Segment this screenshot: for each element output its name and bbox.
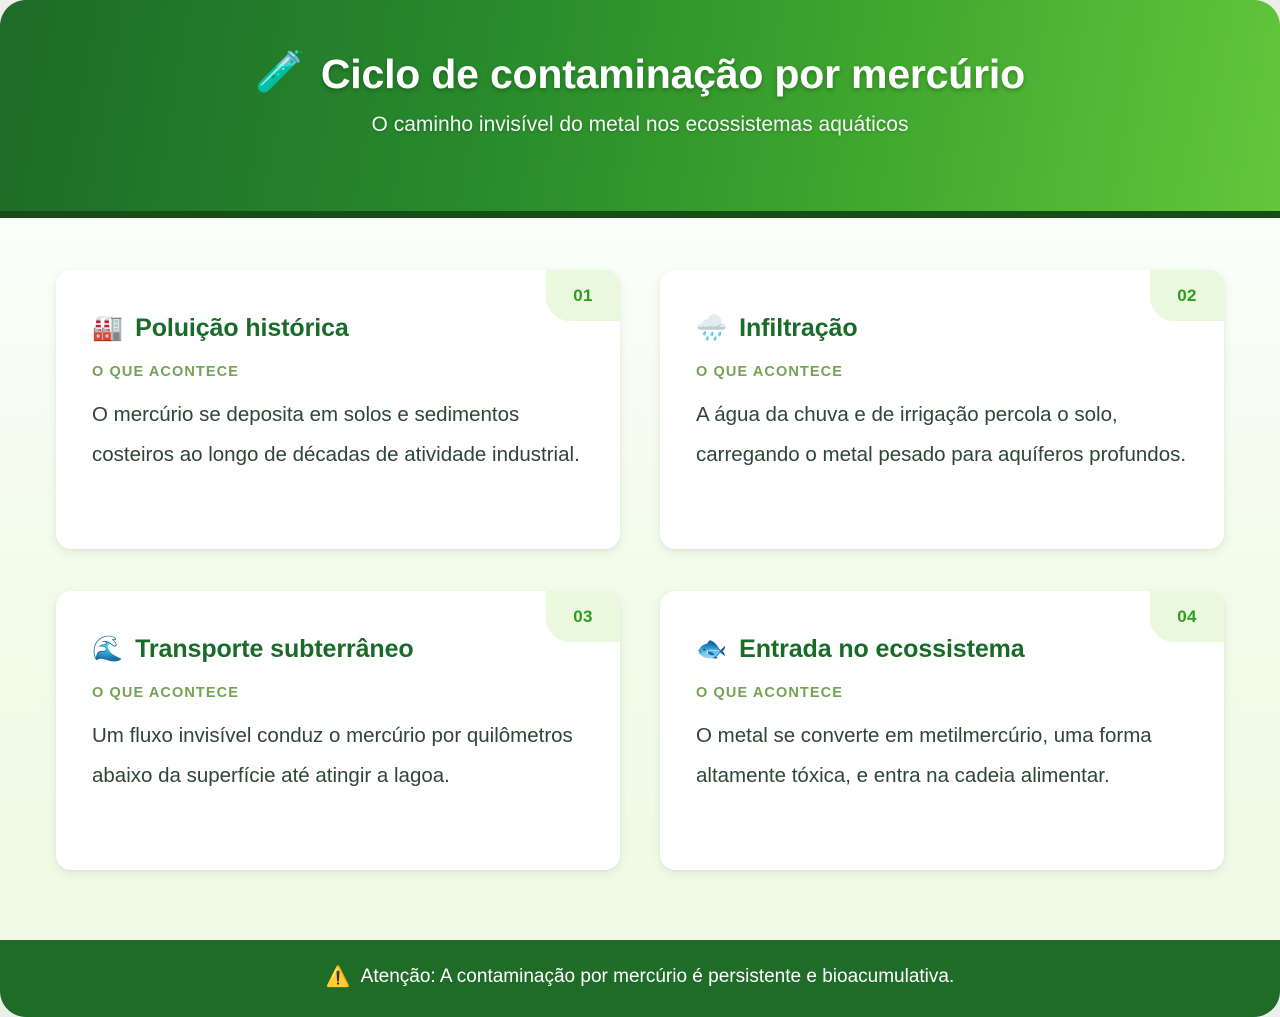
card-section-label: O QUE ACONTECE: [92, 685, 584, 701]
step-card-02[interactable]: 02 🌧️ Infiltração O QUE ACONTECE A água …: [660, 270, 1224, 549]
warning-icon: ⚠️: [326, 967, 351, 987]
test-tube-icon: 🧪: [255, 52, 305, 92]
card-title: Poluição histórica: [135, 314, 349, 343]
card-section-label: O QUE ACONTECE: [696, 685, 1188, 701]
infographic-root: 🧪 Ciclo de contaminação por mercúrio O c…: [0, 0, 1280, 1017]
header-banner: 🧪 Ciclo de contaminação por mercúrio O c…: [0, 0, 1280, 218]
page-title: Ciclo de contaminação por mercúrio: [321, 51, 1025, 98]
card-title: Infiltração: [739, 314, 857, 343]
card-title-row: 🌊 Transporte subterrâneo: [92, 635, 584, 664]
step-number-badge: 01: [546, 270, 620, 321]
card-title-row: 🌧️ Infiltração: [696, 314, 1188, 343]
card-description: O metal se converte em metilmercúrio, um…: [696, 716, 1188, 796]
header-title-row: 🧪 Ciclo de contaminação por mercúrio: [255, 51, 1025, 98]
wave-icon: 🌊: [92, 637, 123, 662]
step-card-04[interactable]: 04 🐟 Entrada no ecossistema O QUE ACONTE…: [660, 591, 1224, 870]
card-description: O mercúrio se deposita em solos e sedime…: [92, 395, 584, 475]
step-number-badge: 04: [1150, 591, 1224, 642]
card-title: Entrada no ecossistema: [739, 635, 1024, 664]
footer-warning-bar: ⚠️ Atenção: A contaminação por mercúrio …: [0, 940, 1280, 1017]
card-title-row: 🐟 Entrada no ecossistema: [696, 635, 1188, 664]
card-title-row: 🏭 Poluição histórica: [92, 314, 584, 343]
rain-cloud-icon: 🌧️: [696, 316, 727, 341]
card-description: A água da chuva e de irrigação percola o…: [696, 395, 1188, 475]
step-number-badge: 02: [1150, 270, 1224, 321]
card-title: Transporte subterrâneo: [135, 635, 413, 664]
card-description: Um fluxo invisível conduz o mercúrio por…: [92, 716, 584, 796]
step-number-badge: 03: [546, 591, 620, 642]
card-section-label: O QUE ACONTECE: [92, 364, 584, 380]
step-card-01[interactable]: 01 🏭 Poluição histórica O QUE ACONTECE O…: [56, 270, 620, 549]
page-subtitle: O caminho invisível do metal nos ecossis…: [372, 113, 909, 137]
card-section-label: O QUE ACONTECE: [696, 364, 1188, 380]
factory-icon: 🏭: [92, 316, 123, 341]
footer-text: Atenção: A contaminação por mercúrio é p…: [361, 966, 955, 988]
step-card-03[interactable]: 03 🌊 Transporte subterrâneo O QUE ACONTE…: [56, 591, 620, 870]
fish-icon: 🐟: [696, 637, 727, 662]
main-content: 01 🏭 Poluição histórica O QUE ACONTECE O…: [0, 218, 1280, 940]
cards-grid: 01 🏭 Poluição histórica O QUE ACONTECE O…: [56, 270, 1224, 870]
